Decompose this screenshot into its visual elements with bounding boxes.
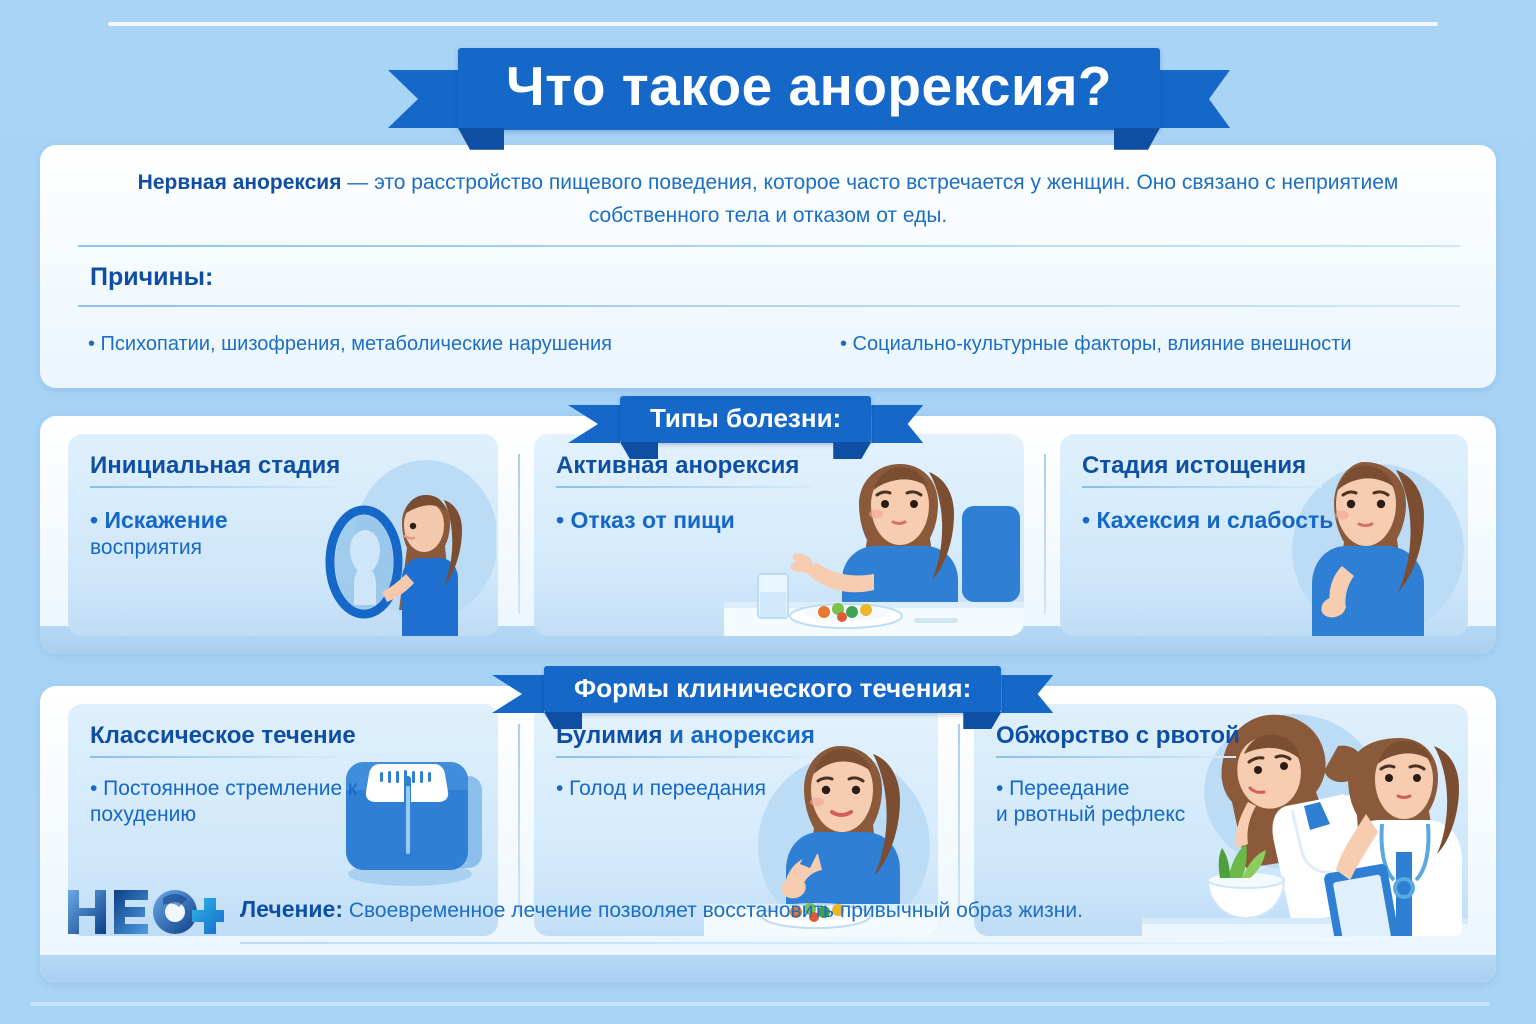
- form-card-title: Обжорство с рвотой: [996, 722, 1240, 750]
- type-card-bullet-strong: • Отказ от пищи: [556, 507, 735, 533]
- title-ribbon: Что такое анорексия?: [388, 48, 1230, 130]
- page-title: Что такое анорексия?: [458, 48, 1160, 130]
- types-panel: Инициальная стадия • Искажение восприяти…: [40, 416, 1496, 654]
- treatment-label: Лечение:: [240, 896, 343, 922]
- form-card-bullet: • Переедание и рвотный рефлекс: [996, 776, 1185, 829]
- intro-lead: Нервная анорексия: [138, 171, 342, 194]
- neo-plus-logo: [64, 884, 224, 940]
- treatment-text: Лечение: Своевременное лечение позволяет…: [240, 896, 1083, 923]
- type-card-rule: [90, 486, 340, 488]
- type-card-title: Стадия истощения: [1082, 452, 1306, 480]
- form-card-bullet-strong: • Постоянное стремление: [90, 777, 342, 800]
- form-card-title: Классическое течение: [90, 722, 356, 750]
- type-card-bullet-strong: • Искажение: [90, 507, 228, 533]
- bottom-divider-line: [30, 1002, 1490, 1006]
- form-card-rule: [90, 756, 340, 758]
- cause-item-2: • Социально-культурные факторы, влияние …: [840, 333, 1352, 356]
- type-card-bullet-rest: восприятия: [90, 536, 202, 559]
- intro-divider-2: [78, 305, 1460, 307]
- ribbon-tail-right: [871, 405, 923, 443]
- form-card-bullet-rest: и рвотный рефлекс: [996, 803, 1185, 826]
- intro-body: — это расстройство пищевого поведения, к…: [341, 171, 1398, 227]
- types-banner-ribbon: Типы болезни:: [568, 396, 923, 443]
- form-card-title-main: Классическое течение: [90, 722, 356, 749]
- type-card-initial: Инициальная стадия • Искажение восприяти…: [68, 434, 498, 636]
- form-card-title: Булимия и анорексия: [556, 722, 815, 750]
- ribbon-tail-right: [1160, 70, 1230, 128]
- infographic-page: Что такое анорексия? Нервная анорексия —…: [0, 0, 1536, 1024]
- form-card-bullet-strong: • Переедание: [996, 777, 1129, 800]
- type-card-bullet-strong: • Кахексия и слабость: [1082, 507, 1333, 533]
- intro-panel: Нервная анорексия — это расстройство пищ…: [40, 145, 1496, 388]
- forms-banner-label: Формы клинического течения:: [544, 666, 1001, 713]
- type-card-rule: [1082, 486, 1322, 488]
- ribbon-tail-left: [568, 405, 620, 443]
- form-card-rule: [556, 756, 806, 758]
- card-divider-2: [1044, 454, 1046, 614]
- intro-divider-1: [78, 245, 1460, 247]
- form-card-title-main: Обжорство с рвотой: [996, 722, 1240, 749]
- cause-item-1: • Психопатии, шизофрения, метаболические…: [88, 333, 612, 356]
- type-card-bullet: • Отказ от пищи: [556, 506, 735, 535]
- ribbon-tail-left: [388, 70, 458, 128]
- card-divider-1: [518, 454, 520, 614]
- intro-paragraph: Нервная анорексия — это расстройство пищ…: [80, 167, 1456, 232]
- type-card-bullet: • Искажение восприятия: [90, 506, 228, 562]
- form-card-bullet: • Постоянное стремление к похудению: [90, 776, 360, 829]
- form-card-title-accent: и анорексия: [662, 722, 814, 749]
- ribbon-tail-right: [1001, 675, 1053, 713]
- footer-divider: [240, 942, 1390, 944]
- footer: Лечение: Своевременное лечение позволяет…: [56, 870, 1480, 966]
- type-card-title: Активная анорексия: [556, 452, 799, 480]
- type-card-cachexia: Стадия истощения • Кахексия и слабость: [1060, 434, 1468, 636]
- form-card-bullet: • Голод и переедания: [556, 776, 766, 802]
- forms-banner-ribbon: Формы клинического течения:: [492, 666, 1053, 713]
- type-card-title: Инициальная стадия: [90, 452, 340, 480]
- form-card-rule: [996, 756, 1236, 758]
- types-banner-label: Типы болезни:: [620, 396, 871, 443]
- form-card-bullet-strong: • Голод и переедания: [556, 777, 766, 800]
- type-card-bullet: • Кахексия и слабость: [1082, 506, 1333, 535]
- type-card-rule: [556, 486, 811, 488]
- causes-heading: Причины:: [90, 263, 213, 292]
- top-divider-line: [108, 22, 1438, 26]
- ribbon-tail-left: [492, 675, 544, 713]
- type-card-active: Активная анорексия • Отказ от пищи: [534, 434, 1024, 636]
- treatment-body: Своевременное лечение позволяет восстано…: [343, 899, 1083, 922]
